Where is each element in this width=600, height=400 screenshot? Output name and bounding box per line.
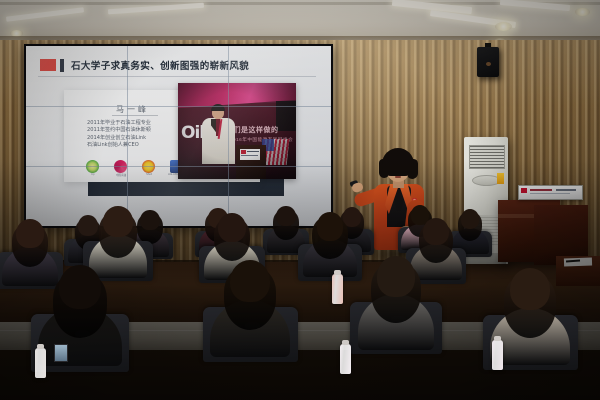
bottle-cap xyxy=(334,270,341,275)
video-wall-bezel-seam xyxy=(127,46,128,226)
podium-shelf xyxy=(498,214,536,218)
podium-monitor-text xyxy=(556,189,576,191)
bottle-cap xyxy=(37,344,44,349)
podium-monitor-logo xyxy=(521,188,527,193)
title-red-accent xyxy=(40,59,56,71)
speaker-driver xyxy=(486,62,491,66)
tablet-screen[interactable] xyxy=(54,344,68,362)
video-wall-frame: 石大学子求真务实、创新图强的崭新风貌 马一峰 2011年毕业于石油工程专业 20… xyxy=(24,44,333,228)
presenter-mouth xyxy=(395,176,401,178)
conference-photo: Oil 我们是这样做的 2016年中国能源互联网峰会 xyxy=(178,83,296,179)
wall-speaker xyxy=(477,47,499,77)
bio-line: 2011年签约中国石油休斯顿 xyxy=(87,127,151,134)
video-wall-bezel-seam xyxy=(26,106,331,107)
ac-warning-label xyxy=(497,173,504,184)
audience-member xyxy=(355,254,437,350)
water-bottle xyxy=(492,340,503,370)
video-wall-screen[interactable]: 石大学子求真务实、创新图强的崭新风貌 马一峰 2011年毕业于石油工程专业 20… xyxy=(26,46,331,226)
water-bottle xyxy=(332,274,343,304)
bottle-cap xyxy=(342,340,349,345)
shell-logo-label: Shell xyxy=(138,173,160,176)
title-dark-accent xyxy=(60,59,64,72)
lecture-hall-screenshot: 石大学子求真务实、创新图强的崭新风貌 马一峰 2011年毕业于石油工程专业 20… xyxy=(0,0,600,400)
audience-head xyxy=(317,212,344,241)
slide-title-divider xyxy=(38,76,316,77)
audience-member xyxy=(301,210,358,277)
audience-head xyxy=(276,206,295,226)
audience-head xyxy=(461,209,480,229)
audience-member xyxy=(208,257,293,357)
audience-head xyxy=(230,260,270,303)
audience-head xyxy=(16,219,44,248)
speaker-bio-list: 2011年毕业于石油工程专业 2011年签约中国石油休斯顿 2014年创业创立石… xyxy=(87,120,151,149)
podium-monitor-text xyxy=(530,189,552,191)
video-wall-bezel-seam xyxy=(26,166,331,167)
presentation-slide: 石大学子求真务实、创新图强的崭新风貌 马一峰 2011年毕业于石油工程专业 20… xyxy=(26,46,331,226)
ac-vent-grille xyxy=(469,145,505,169)
video-wall-bezel-seam xyxy=(228,46,229,226)
bp-logo-label: bp xyxy=(82,173,104,176)
photo-vignette xyxy=(178,83,296,179)
bottle-cap xyxy=(494,336,501,341)
audience-head xyxy=(103,206,132,237)
slide-title: 石大学子求真务实、创新图强的崭新风貌 xyxy=(71,58,249,72)
bio-line: 石油Link创始人兼CEO xyxy=(87,142,151,149)
bio-line: 2014年创业创立石油Link xyxy=(87,135,151,142)
audience-head xyxy=(218,213,246,242)
podium-monitor-text xyxy=(530,193,570,194)
cnooc-logo-label: 中国海油 xyxy=(110,173,132,177)
slide-title-row: 石大学子求真务实、创新图强的崭新风貌 xyxy=(40,58,249,72)
downlight xyxy=(575,8,590,16)
signature-underline xyxy=(112,115,158,116)
audience-head xyxy=(377,256,415,297)
water-bottle xyxy=(35,348,46,378)
audience-head xyxy=(510,268,550,311)
presenter-hair xyxy=(382,148,414,176)
audience-member xyxy=(36,262,124,366)
audience-head xyxy=(59,265,101,309)
water-bottle xyxy=(340,344,351,374)
audience-head xyxy=(423,218,449,245)
downlight xyxy=(495,22,512,31)
